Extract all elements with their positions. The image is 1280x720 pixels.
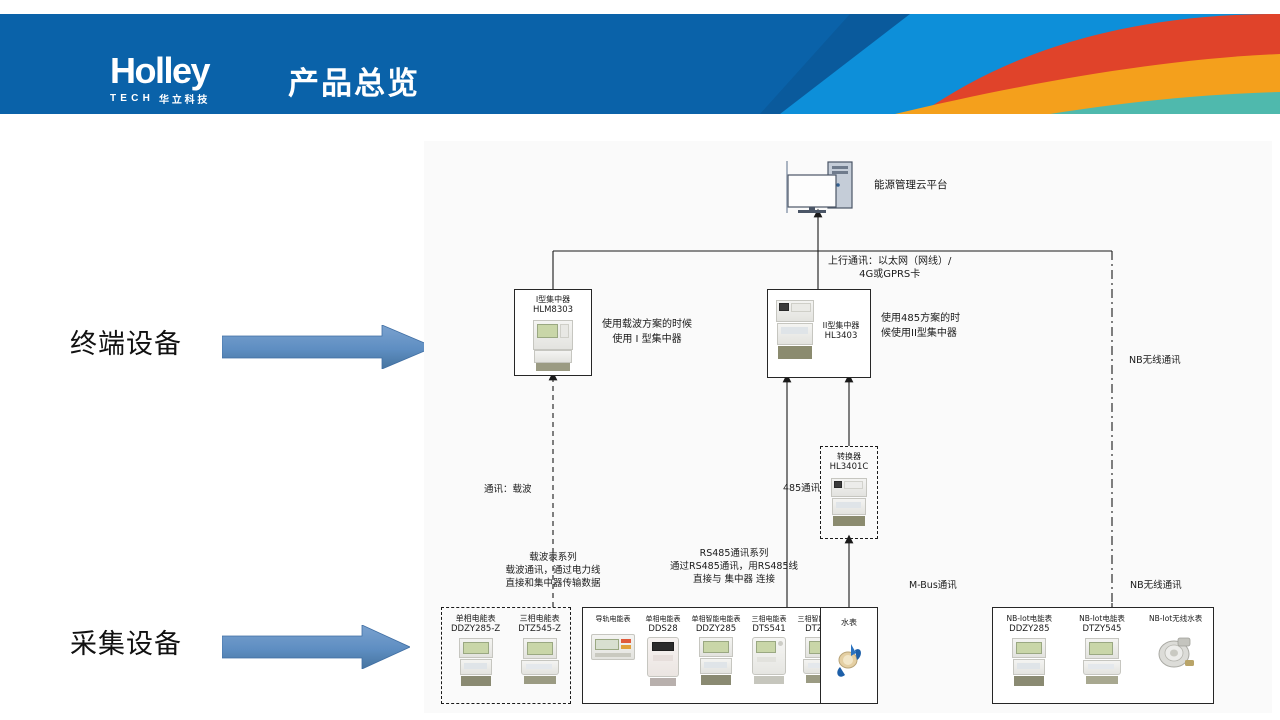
list-item-dds28[interactable]: 单相电能表 DDS28 <box>638 614 688 687</box>
device-model: DTZY545 <box>1071 624 1133 634</box>
din-rail-meter-icon <box>591 634 635 660</box>
rs485-meter-group[interactable]: 导轨电能表 单相电能表 DDS28 <box>582 607 856 704</box>
device-name: 单相电能表 <box>451 614 500 624</box>
link-label-carrier: 通讯：载波 <box>484 483 532 496</box>
section-label-terminal-devices: 终端设备 <box>70 322 182 361</box>
water-meter-icon <box>829 636 869 684</box>
rs485-group-desc1: 通过RS485通讯，用RS485线 <box>599 560 869 573</box>
system-architecture-diagram: 能源管理云平台 上行通讯：以太网（网线）/ 4G或GPRS卡 I型集中器 HLM… <box>424 141 1272 713</box>
device-model: DDS28 <box>638 624 688 634</box>
desktop-computer-icon <box>772 159 864 215</box>
concentrator-type-1-name: I型集中器 <box>515 295 591 305</box>
three-phase-meter-icon <box>752 637 786 687</box>
converter-box[interactable]: 转换器 HL3401C <box>820 446 878 539</box>
concentrator-type-2-name: II型集中器 <box>818 321 864 331</box>
concentrator-type-1-box[interactable]: I型集中器 HLM8303 <box>514 289 592 376</box>
rs485-group-caption: RS485通讯系列 通过RS485通讯，用RS485线 直接与 集中器 连接 <box>599 547 869 586</box>
device-name: 水表 <box>821 618 877 628</box>
list-item-din-rail-meter[interactable]: 导轨电能表 <box>588 614 638 687</box>
single-phase-smart-meter-icon <box>699 637 733 687</box>
rs485-group-desc2: 直接与 集中器 连接 <box>599 573 869 586</box>
concentrator-type-1-model: HLM8303 <box>515 305 591 315</box>
device-model: DDZY285-Z <box>451 624 500 634</box>
device-name: 单相智能电能表 <box>688 614 744 624</box>
three-phase-meter-icon <box>521 638 559 686</box>
device-model: DDZY285 <box>998 624 1060 634</box>
rs485-group-title: RS485通讯系列 <box>599 547 869 560</box>
uplink-communication-note: 上行通讯：以太网（网线）/ 4G或GPRS卡 <box>828 255 951 281</box>
list-item-ddzy285[interactable]: 单相智能电能表 DDZY285 <box>688 614 744 687</box>
nb-single-phase-meter-icon <box>1012 638 1046 688</box>
concentrator-type-2-box[interactable]: II型集中器 HL3403 <box>767 289 871 378</box>
concentrator-1-note-line2: 使用 I 型集中器 <box>602 332 692 347</box>
device-name: NB-Iot电能表 <box>1071 614 1133 624</box>
device-name: 三相电能表 <box>518 614 561 624</box>
device-name: NB-Iot电能表 <box>998 614 1060 624</box>
converter-name: 转换器 <box>821 452 877 462</box>
link-label-nb-right: NB无线通讯 <box>1129 354 1181 367</box>
list-item-dts541[interactable]: 三相电能表 DTS541 <box>744 614 794 687</box>
slide-header: Holley TECH 华立科技 产品总览 <box>0 14 1280 114</box>
cloud-platform-icon <box>772 159 864 215</box>
device-name: NB-Iot无线水表 <box>1144 614 1208 624</box>
converter-model: HL3401C <box>821 462 877 472</box>
carrier-meter-group[interactable]: 单相电能表 DDZY285-Z 三相电能表 DTZ545-Z <box>441 607 571 704</box>
single-phase-meter-icon <box>459 638 493 688</box>
concentrator-1-note-line1: 使用载波方案的时候 <box>602 317 692 332</box>
device-name: 三相电能表 <box>744 614 794 624</box>
logo-tech-text: TECH <box>110 93 154 104</box>
logo-chinese-text: 华立科技 <box>159 91 210 106</box>
concentrator-type-2-image <box>776 300 814 362</box>
nb-iot-device-group[interactable]: NB-Iot电能表 DDZY285 NB-Iot电能表 DTZY545 <box>992 607 1214 704</box>
nb-wireless-water-meter-icon <box>1154 630 1198 674</box>
device-name: 导轨电能表 <box>588 614 638 624</box>
single-phase-meter-icon <box>647 637 679 687</box>
concentrator-type-2-model: HL3403 <box>818 331 864 341</box>
device-model: DTS541 <box>744 624 794 634</box>
concentrator-2-note-line2: 候使用II型集中器 <box>881 326 960 341</box>
arrow-right-icon-collection <box>222 625 410 669</box>
concentrator-type-2-note: 使用485方案的时 候使用II型集中器 <box>881 311 960 341</box>
cloud-platform-label: 能源管理云平台 <box>874 179 948 192</box>
concentrator-type-1-image <box>533 320 573 372</box>
uplink-note-line2: 4G或GPRS卡 <box>828 268 951 281</box>
link-label-mbus: M-Bus通讯 <box>909 579 957 592</box>
holley-logo: Holley TECH 华立科技 <box>110 54 270 106</box>
list-item-carrier-three-phase[interactable]: 三相电能表 DTZ545-Z <box>518 614 561 688</box>
list-item-nb-water-meter[interactable]: NB-Iot无线水表 <box>1144 614 1208 688</box>
device-model: DDZY285 <box>688 624 744 634</box>
device-name: 单相电能表 <box>638 614 688 624</box>
link-label-rs485: 485通讯 <box>783 482 820 495</box>
nb-three-phase-meter-icon <box>1083 638 1121 686</box>
arrow-right-icon-terminal <box>222 325 434 369</box>
logo-subtitle: TECH 华立科技 <box>110 91 270 106</box>
section-label-collection-devices: 采集设备 <box>70 622 182 661</box>
list-item-carrier-single-phase[interactable]: 单相电能表 DDZY285-Z <box>451 614 500 688</box>
uplink-note-line1: 上行通讯：以太网（网线）/ <box>828 255 951 268</box>
list-item-nb-dtzy545[interactable]: NB-Iot电能表 DTZY545 <box>1071 614 1133 688</box>
concentrator-2-note-line1: 使用485方案的时 <box>881 311 960 326</box>
header-swoosh-graphic <box>760 14 1280 114</box>
slide-page: Holley TECH 华立科技 产品总览 终端设备 采集设备 <box>0 0 1280 720</box>
device-model: DTZ545-Z <box>518 624 561 634</box>
converter-image <box>831 478 867 528</box>
page-title: 产品总览 <box>288 58 420 103</box>
water-meter-group[interactable]: 水表 <box>820 607 878 704</box>
concentrator-type-1-note: 使用载波方案的时候 使用 I 型集中器 <box>602 317 692 347</box>
link-label-nb-bottom: NB无线通讯 <box>1130 579 1182 592</box>
list-item-nb-ddzy285[interactable]: NB-Iot电能表 DDZY285 <box>998 614 1060 688</box>
logo-wordmark: Holley <box>110 54 270 88</box>
